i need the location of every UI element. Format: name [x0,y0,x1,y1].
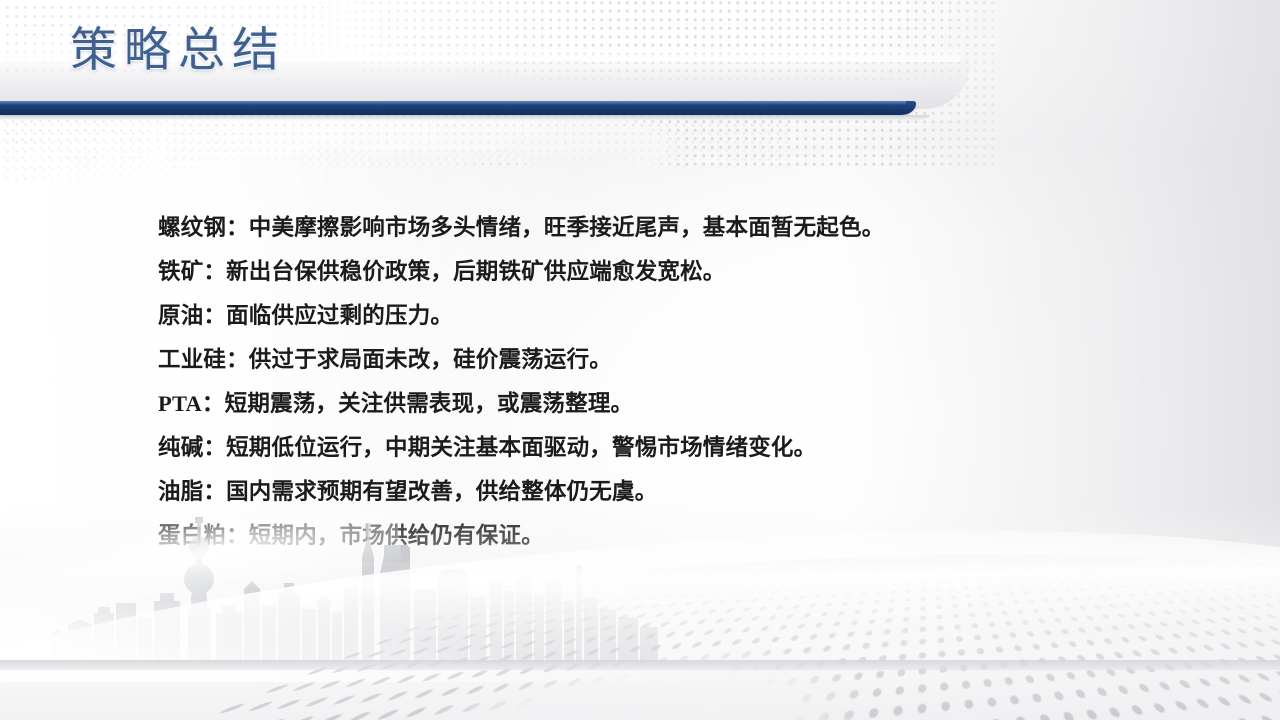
footer-artwork [0,505,1280,720]
footer-gray-strip [0,660,1280,670]
summary-line: 工业硅：供过于求局面未改，硅价震荡运行。 [158,338,1178,382]
summary-line: 纯碱：短期低位运行，中期关注基本面驱动，警惕市场情绪变化。 [158,426,1178,470]
header-accent-bar-shadow [0,115,930,121]
blue-dot-grid-lower-icon [0,108,300,198]
summary-line: 铁矿：新出台保供稳价政策，后期铁矿供应端愈发宽松。 [158,250,1178,294]
slide-canvas: 策略总结 螺纹钢：中美摩擦影响市场多头情绪，旺季接近尾声，基本面暂无起色。 铁矿… [0,0,1280,720]
page-title: 策略总结 [70,27,286,77]
summary-line: 原油：面临供应过剩的压力。 [158,294,1178,338]
summary-line: 螺纹钢：中美摩擦影响市场多头情绪，旺季接近尾声，基本面暂无起色。 [158,206,1178,250]
summary-line: PTA：短期震荡，关注供需表现，或震荡整理。 [158,382,1178,426]
header-accent-bar-gloss [0,101,906,105]
